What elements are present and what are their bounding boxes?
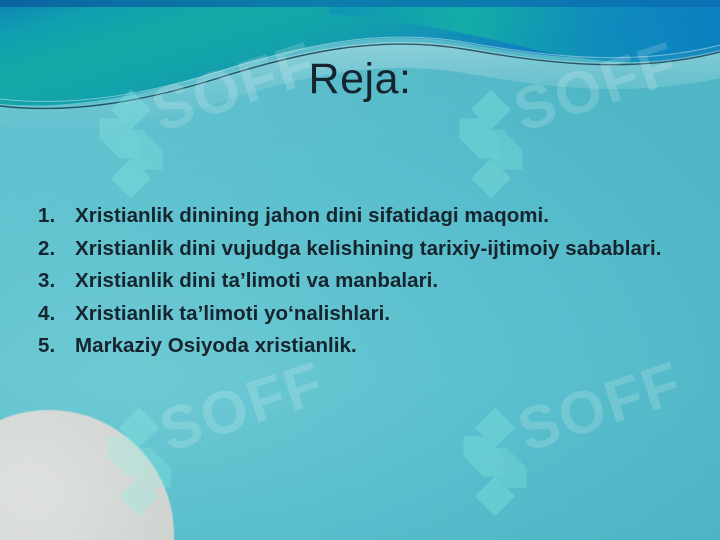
list-item-text: Xristianlik dini ta’limoti va manbalari.: [75, 265, 693, 298]
list-item-number: 3.: [38, 265, 75, 298]
list-item: 2. Xristianlik dini vujudga kelishining …: [38, 233, 693, 266]
list-item-text: Xristianlik dinining jahon dini sifatida…: [75, 200, 693, 233]
list-item-number: 5.: [38, 330, 75, 363]
list-item: 4. Xristianlik ta’limoti yo‘nalishlari.: [38, 298, 693, 331]
list-item-text: Xristianlik dini vujudga kelishining tar…: [75, 233, 693, 266]
agenda-list: 1. Xristianlik dinining jahon dini sifat…: [38, 200, 693, 363]
list-item-number: 4.: [38, 298, 75, 331]
slide-content: Reja: 1. Xristianlik dinining jahon dini…: [0, 0, 720, 540]
slide-title: Reja:: [0, 57, 720, 102]
list-item-text: Xristianlik ta’limoti yo‘nalishlari.: [75, 298, 693, 331]
slide-canvas: SOFF SOFF SOFF SOFF Reja: 1. Xristianlik…: [0, 0, 720, 540]
list-item-number: 2.: [38, 233, 75, 266]
list-item: 3. Xristianlik dini ta’limoti va manbala…: [38, 265, 693, 298]
list-item: 1. Xristianlik dinining jahon dini sifat…: [38, 200, 693, 233]
list-item: 5. Markaziy Osiyoda xristianlik.: [38, 330, 693, 363]
list-item-number: 1.: [38, 200, 75, 233]
list-item-text: Markaziy Osiyoda xristianlik.: [75, 330, 693, 363]
